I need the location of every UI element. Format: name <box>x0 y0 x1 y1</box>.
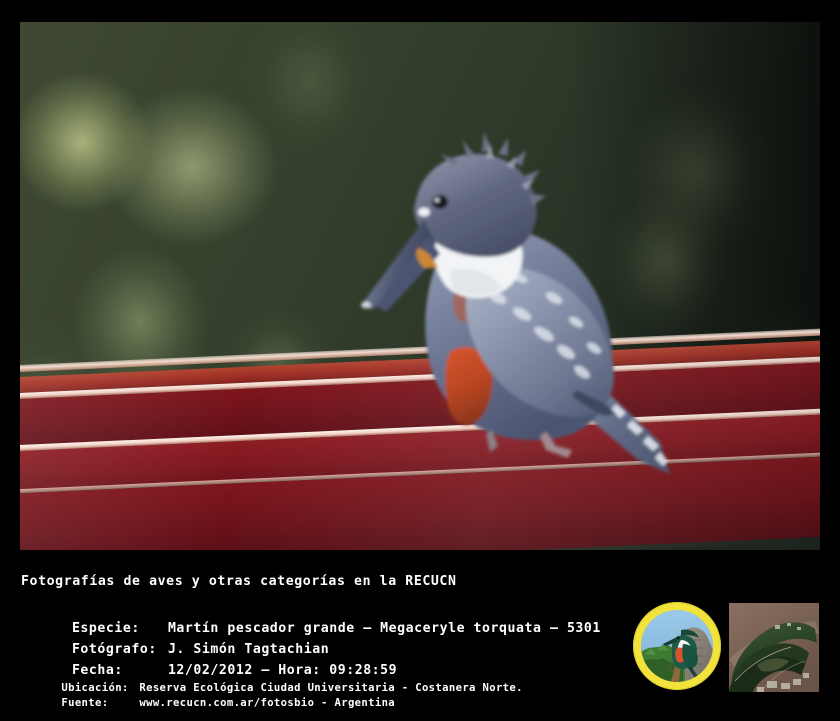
reserve-aerial-thumbnail[interactable] <box>729 603 819 692</box>
screenshot-root: Fotografías de aves y otras categorías e… <box>0 0 840 708</box>
caption-title: Fotografías de aves y otras categorías e… <box>21 574 457 589</box>
bird-photograph <box>20 22 820 550</box>
label-fuente: Fuente: <box>61 697 139 709</box>
photo-film-grain <box>20 22 820 550</box>
caption-row-fuente: Fuente:www.recucn.com.ar/fotosbio - Arge… <box>21 685 395 721</box>
value-fuente: www.recucn.com.ar/fotosbio - Argentina <box>139 697 395 709</box>
aerial-artwork <box>729 603 819 692</box>
emblem-bird-eye <box>677 637 680 640</box>
emblem-inner-disc <box>641 610 713 682</box>
emblem-artwork <box>641 610 713 682</box>
recucn-emblem-logo[interactable] <box>633 602 721 690</box>
